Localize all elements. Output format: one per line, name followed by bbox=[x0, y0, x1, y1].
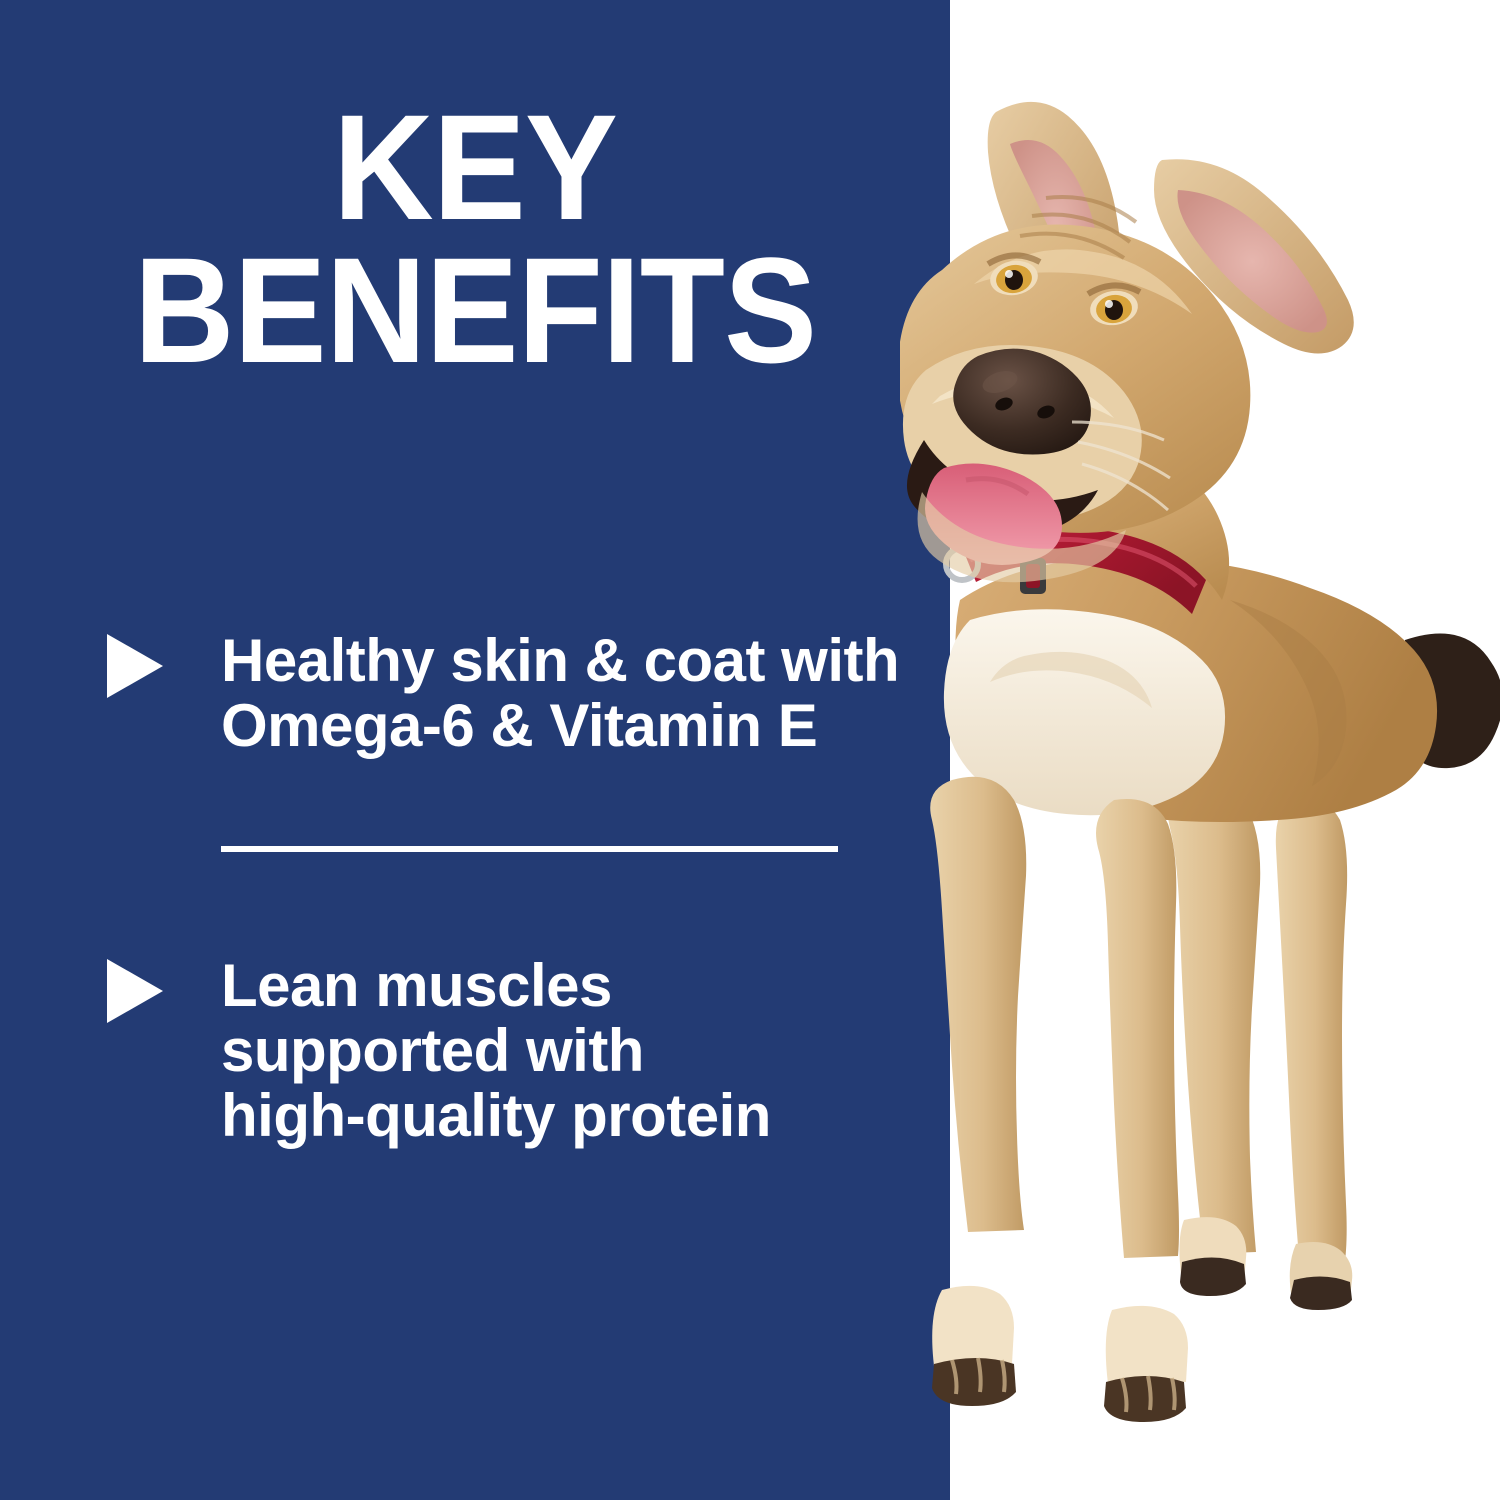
key-benefits-panel: KEY BENEFITS Healthy skin & coat with Om… bbox=[0, 0, 1500, 1500]
dog-front-leg-far bbox=[1096, 799, 1179, 1258]
benefit-divider bbox=[221, 846, 838, 852]
dog-front-leg-near bbox=[930, 777, 1026, 1232]
benefit-item-1: Healthy skin & coat with Omega-6 & Vitam… bbox=[107, 628, 907, 758]
benefit-text-1: Healthy skin & coat with Omega-6 & Vitam… bbox=[221, 628, 899, 758]
title-line-1: KEY bbox=[33, 96, 917, 239]
page-title: KEY BENEFITS bbox=[33, 96, 917, 382]
dog-paw-hind-near bbox=[1180, 1257, 1246, 1296]
dog-photo bbox=[900, 40, 1500, 1440]
triangle-right-icon bbox=[107, 634, 163, 698]
dog-hind-leg-far bbox=[1276, 799, 1347, 1270]
dog-paw-hind-far bbox=[1290, 1276, 1352, 1310]
benefit-item-2: Lean muscles supported with high-quality… bbox=[107, 953, 907, 1148]
benefit-text-2: Lean muscles supported with high-quality… bbox=[221, 953, 771, 1148]
triangle-right-icon bbox=[107, 959, 163, 1023]
dog-hind-leg-near bbox=[1168, 778, 1261, 1254]
title-line-2: BENEFITS bbox=[33, 239, 917, 382]
